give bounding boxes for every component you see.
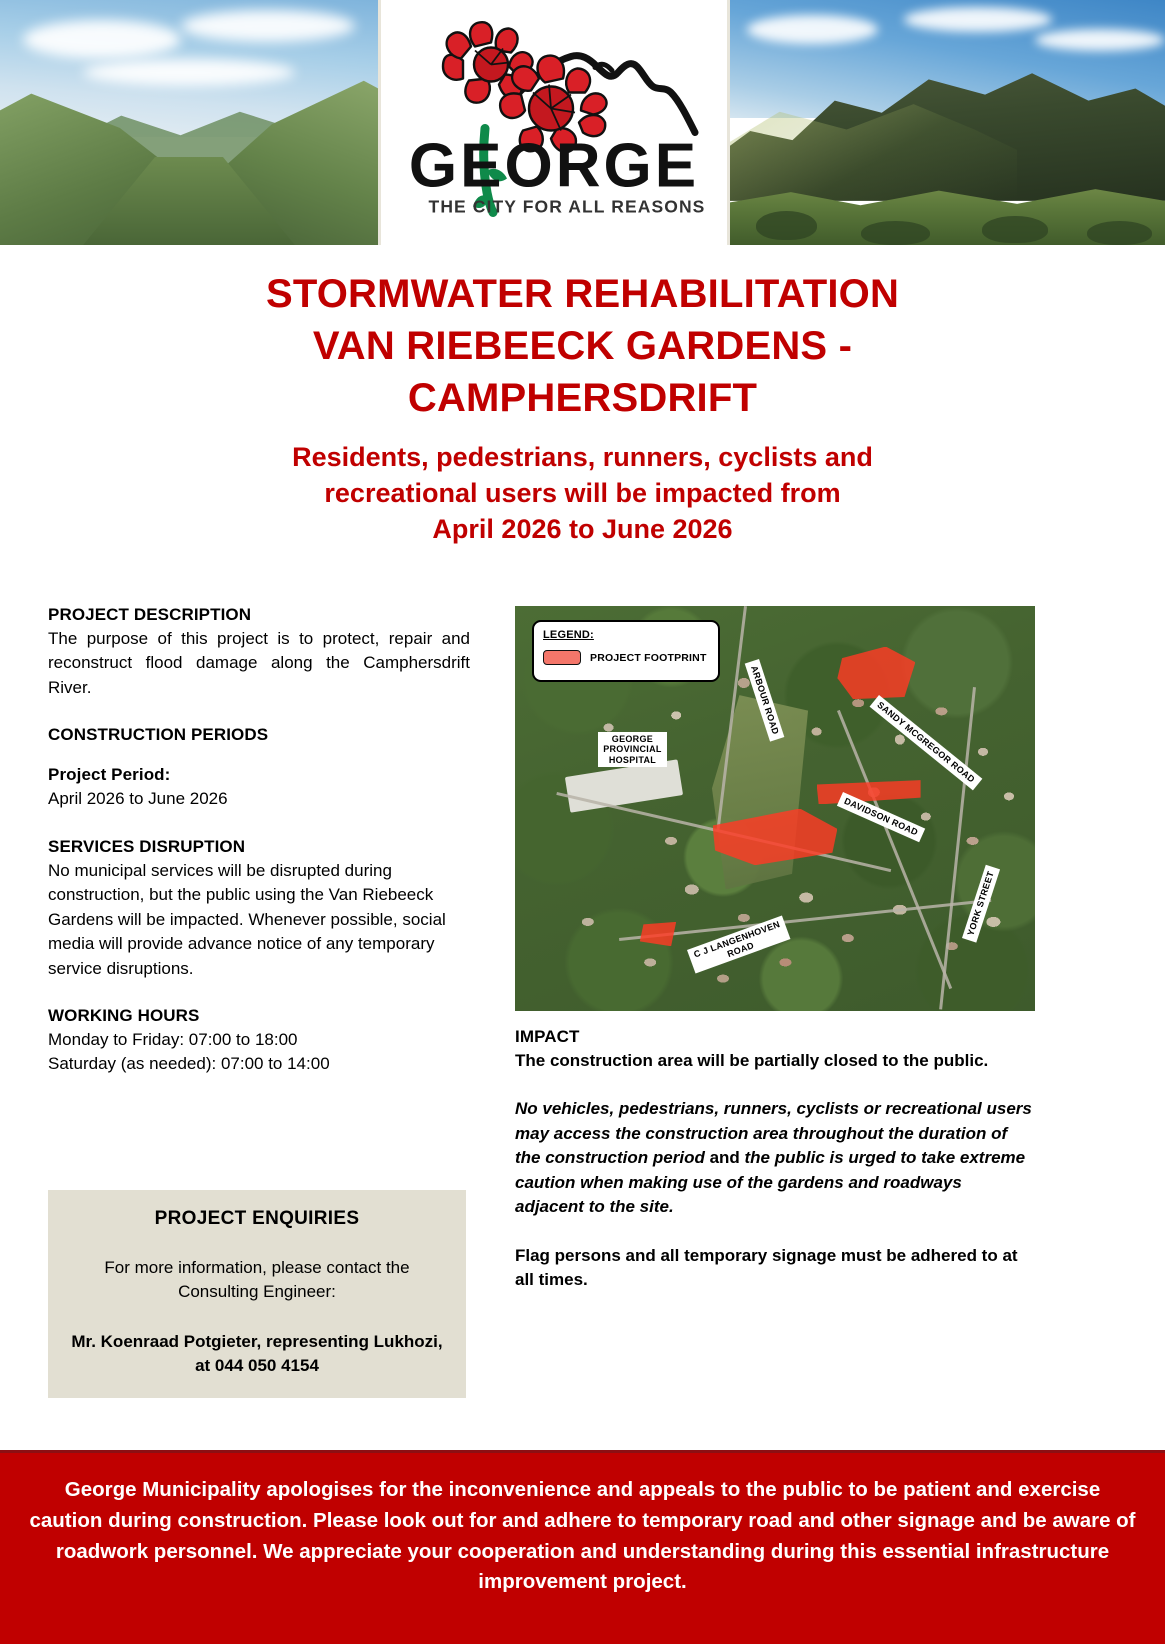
enquiries-body: For more information, please contact the… — [68, 1256, 446, 1304]
footer-apology-banner: George Municipality apologises for the i… — [0, 1450, 1165, 1644]
header-logo-panel: GEORGE THE CITY FOR ALL REASONS — [378, 0, 730, 245]
project-description-heading: PROJECT DESCRIPTION — [48, 604, 470, 627]
header-photo-right — [730, 0, 1165, 245]
spacer — [48, 981, 470, 1005]
subtitle-line-3: April 2026 to June 2026 — [0, 512, 1165, 548]
shrub — [861, 221, 931, 246]
map-label-hospital-l2: PROVINCIAL — [603, 744, 662, 754]
cloud — [904, 7, 1052, 32]
construction-periods-heading: CONSTRUCTION PERIODS — [48, 724, 470, 747]
title-block: STORMWATER REHABILITATION VAN RIEBEECK G… — [0, 268, 1165, 548]
shrub — [756, 211, 817, 240]
legend-swatch-icon — [543, 650, 581, 665]
spacer — [48, 747, 470, 764]
map-legend: LEGEND: PROJECT FOOTPRINT — [532, 620, 720, 682]
cloud — [23, 20, 182, 59]
logo-tagline: THE CITY FOR ALL REASONS — [429, 196, 706, 216]
impact-closing: Flag persons and all temporary signage m… — [515, 1244, 1035, 1293]
logo-wordmark: GEORGE — [409, 131, 699, 200]
services-disruption-body: No municipal services will be disrupted … — [48, 859, 470, 981]
project-description-body: The purpose of this project is to protec… — [48, 627, 470, 700]
shrub — [982, 216, 1047, 243]
working-hours-heading: WORKING HOURS — [48, 1005, 470, 1028]
working-hours-saturday: Saturday (as needed): 07:00 to 14:00 — [48, 1052, 470, 1076]
impact-warning-conjunction: and — [705, 1148, 745, 1167]
impact-heading: IMPACT — [515, 1026, 1035, 1049]
spacer — [48, 812, 470, 836]
project-period-heading: Project Period: — [48, 764, 470, 787]
title-line-2: VAN RIEBEECK GARDENS - — [0, 320, 1165, 372]
cloud — [181, 10, 355, 42]
subtitle-line-1: Residents, pedestrians, runners, cyclist… — [0, 440, 1165, 476]
spacer — [48, 700, 470, 724]
left-content-column: PROJECT DESCRIPTION The purpose of this … — [48, 604, 470, 1077]
page-title: STORMWATER REHABILITATION VAN RIEBEECK G… — [0, 268, 1165, 424]
header-photo-left — [0, 0, 378, 245]
project-location-map[interactable]: LEGEND: PROJECT FOOTPRINT GEORGE PROVINC… — [515, 606, 1035, 1011]
services-disruption-heading: SERVICES DISRUPTION — [48, 836, 470, 859]
title-line-1: STORMWATER REHABILITATION — [0, 268, 1165, 320]
spacer — [515, 1073, 1035, 1097]
enquiries-contact: Mr. Koenraad Potgieter, representing Luk… — [68, 1330, 446, 1378]
enquiries-heading: PROJECT ENQUIRIES — [68, 1208, 446, 1230]
page-subtitle: Residents, pedestrians, runners, cyclist… — [0, 440, 1165, 548]
map-label-hospital-l3: HOSPITAL — [609, 755, 656, 765]
cloud — [747, 15, 878, 44]
project-period-value: April 2026 to June 2026 — [48, 787, 470, 811]
spacer — [515, 1220, 1035, 1244]
project-enquiries-box: PROJECT ENQUIRIES For more information, … — [48, 1190, 466, 1398]
cloud — [83, 59, 295, 86]
footer-text: George Municipality apologises for the i… — [29, 1478, 1135, 1593]
george-municipality-logo: GEORGE THE CITY FOR ALL REASONS — [399, 20, 709, 225]
header-banner: GEORGE THE CITY FOR ALL REASONS — [0, 0, 1165, 245]
logo-svg: GEORGE THE CITY FOR ALL REASONS — [399, 20, 709, 225]
shrub — [1087, 221, 1152, 246]
impact-section: IMPACT The construction area will be par… — [515, 1026, 1035, 1293]
working-hours-weekday: Monday to Friday: 07:00 to 18:00 — [48, 1028, 470, 1052]
title-line-3: CAMPHERSDRIFT — [0, 372, 1165, 424]
legend-row: PROJECT FOOTPRINT — [543, 650, 709, 665]
impact-lead: The construction area will be partially … — [515, 1049, 1035, 1073]
legend-title: LEGEND: — [543, 629, 709, 641]
map-label-hospital: GEORGE PROVINCIAL HOSPITAL — [598, 732, 667, 768]
impact-warning: No vehicles, pedestrians, runners, cycli… — [515, 1097, 1035, 1219]
subtitle-line-2: recreational users will be impacted from — [0, 476, 1165, 512]
map-label-hospital-l1: GEORGE — [612, 734, 653, 744]
legend-label: PROJECT FOOTPRINT — [590, 652, 707, 664]
